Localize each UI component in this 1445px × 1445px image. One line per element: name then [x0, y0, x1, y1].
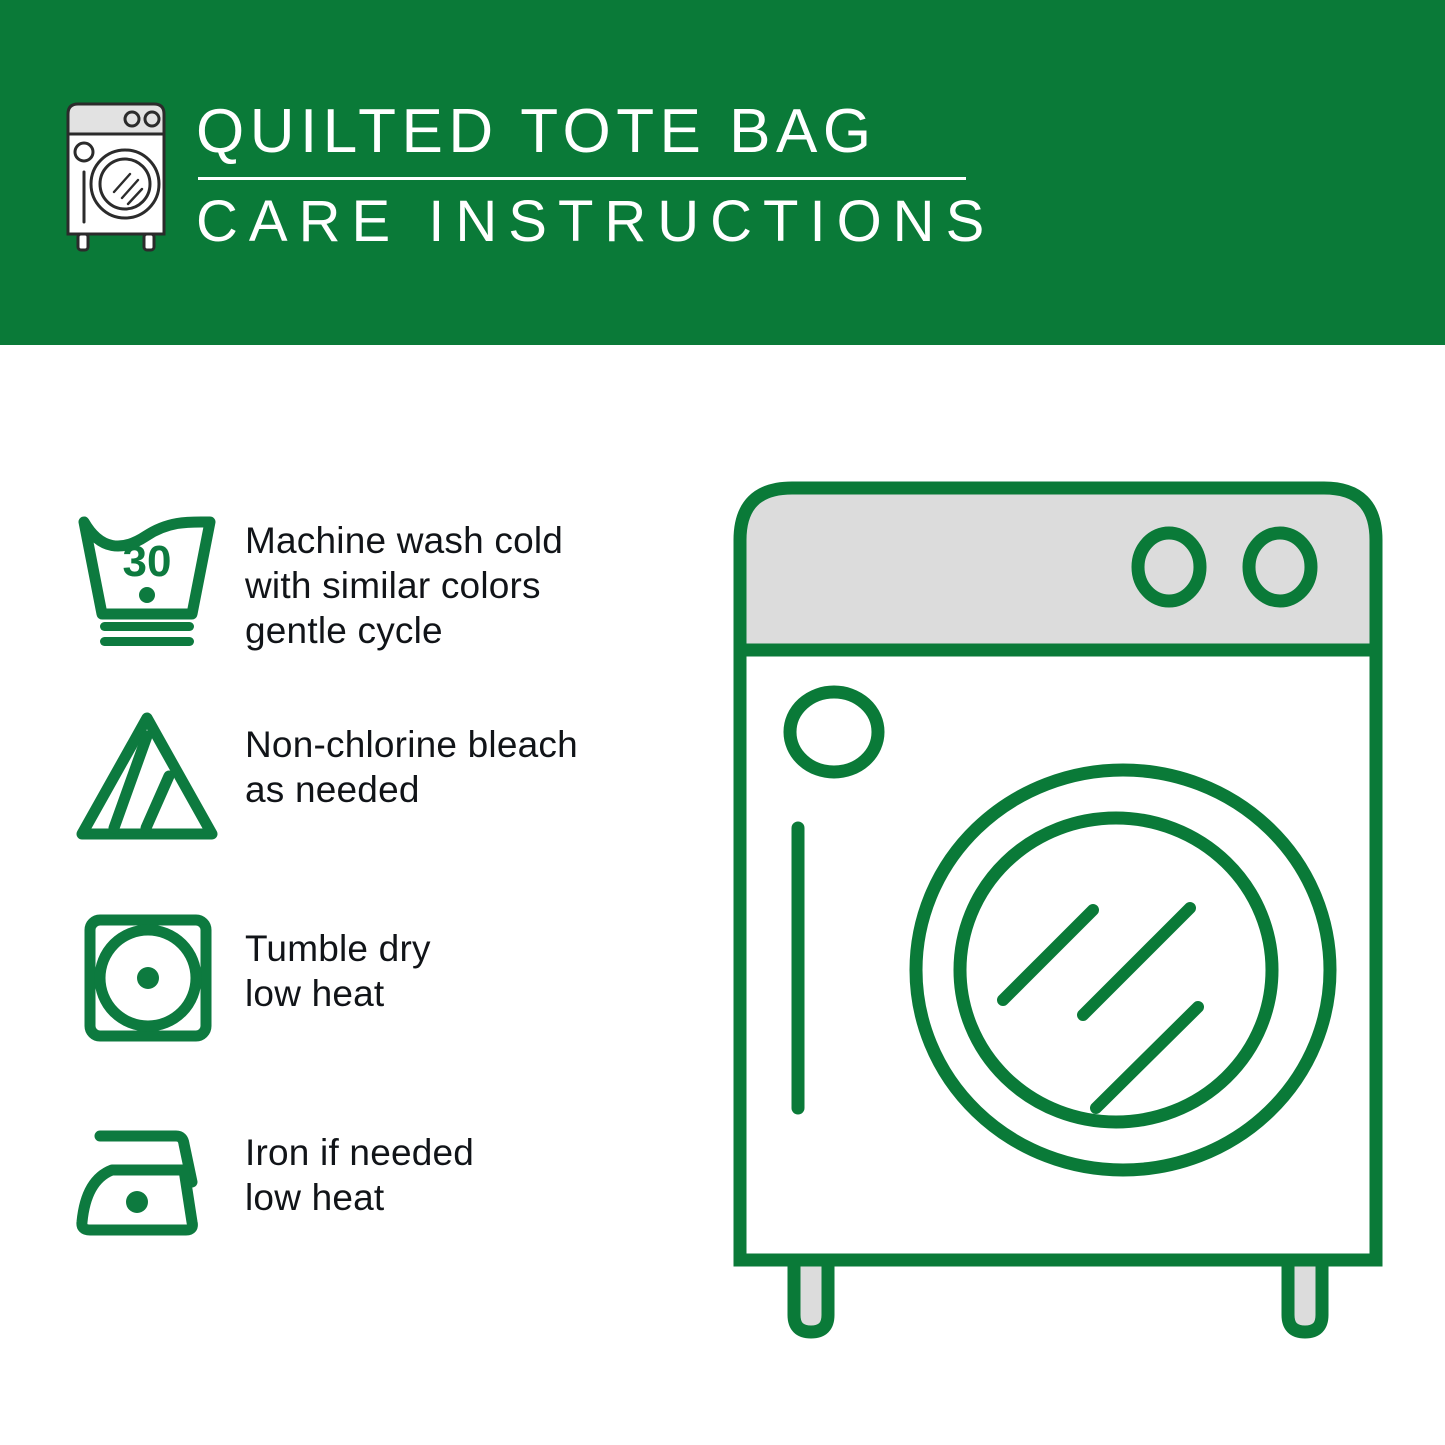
care-row-bleach: Non-chlorine bleach as needed — [60, 696, 700, 900]
door-outer-ring — [916, 770, 1330, 1170]
door-shine-lines — [1003, 908, 1198, 1108]
leg-left — [794, 1260, 828, 1332]
care-instruction-list: 30 Machine wash cold with similar colors… — [60, 492, 700, 1308]
care-symbol-slot — [60, 696, 235, 852]
machine-body — [740, 650, 1376, 1260]
leg-right — [1288, 1260, 1322, 1332]
care-row-tumble-dry: Tumble dry low heat — [60, 900, 700, 1104]
knob-left[interactable] — [1138, 533, 1200, 601]
non-chlorine-bleach-triangle-icon — [70, 702, 225, 852]
title-divider — [198, 177, 966, 180]
header-title-block: QUILTED TOTE BAG CARE INSTRUCTIONS — [196, 96, 995, 253]
care-text-line: with similar colors — [245, 563, 563, 608]
page-title: QUILTED TOTE BAG — [196, 100, 995, 163]
control-panel — [740, 488, 1376, 650]
care-text-bleach: Non-chlorine bleach as needed — [235, 696, 578, 812]
machine-wash-30-gentle-icon: 30 — [70, 498, 225, 648]
care-text-line: low heat — [245, 971, 431, 1016]
care-instructions-page: QUILTED TOTE BAG CARE INSTRUCTIONS 30 — [0, 0, 1445, 1445]
care-text-machine-wash: Machine wash cold with similar colors ge… — [235, 492, 563, 653]
iron-low-heat-icon — [70, 1110, 225, 1260]
care-text-line: as needed — [245, 767, 578, 812]
care-text-line: gentle cycle — [245, 608, 563, 653]
care-text-line: Non-chlorine bleach — [245, 722, 578, 767]
care-text-iron: Iron if needed low heat — [235, 1104, 474, 1220]
care-text-line: Machine wash cold — [245, 518, 563, 563]
care-row-iron: Iron if needed low heat — [60, 1104, 700, 1308]
large-washing-machine-illustration — [728, 470, 1388, 1370]
care-text-line: low heat — [245, 1175, 474, 1220]
page-subtitle: CARE INSTRUCTIONS — [196, 192, 995, 253]
header-banner: QUILTED TOTE BAG CARE INSTRUCTIONS — [0, 0, 1445, 345]
knob-right[interactable] — [1249, 533, 1311, 601]
care-symbol-slot: 30 — [60, 492, 235, 648]
care-symbol-slot — [60, 1104, 235, 1260]
detergent-port — [790, 692, 878, 772]
care-text-tumble-dry: Tumble dry low heat — [235, 900, 431, 1016]
care-text-line: Tumble dry — [245, 926, 431, 971]
tumble-dry-low-heat-icon — [70, 906, 225, 1056]
washing-machine-icon — [62, 96, 170, 256]
wash-temperature-label: 30 — [123, 537, 172, 586]
care-symbol-slot — [60, 900, 235, 1056]
care-text-line: Iron if needed — [245, 1130, 474, 1175]
door-inner-ring — [960, 818, 1272, 1122]
care-row-machine-wash: 30 Machine wash cold with similar colors… — [60, 492, 700, 696]
header-content: QUILTED TOTE BAG CARE INSTRUCTIONS — [62, 96, 995, 256]
